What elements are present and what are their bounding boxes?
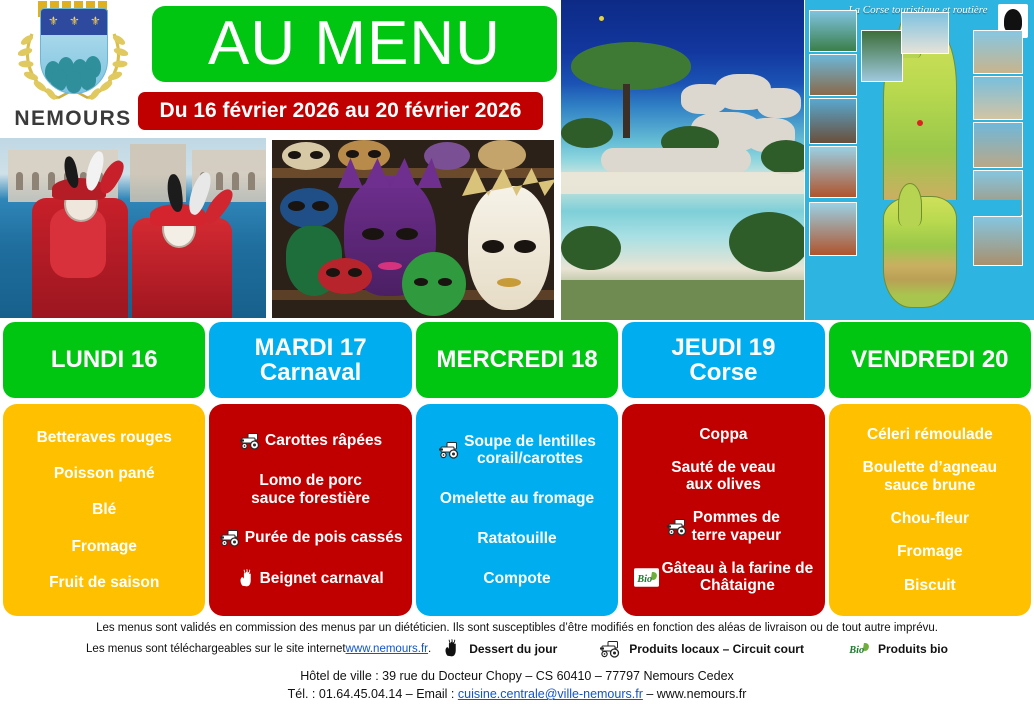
trees-icon [41, 35, 107, 93]
contact-prefix: Tél. : 01.64.45.04.14 – Email : [288, 687, 458, 701]
menu-card-row: Betteraves rougesPoisson panéBléFromageF… [0, 404, 1034, 616]
day-header-mercredi[interactable]: MERCREDI 18 [416, 322, 618, 398]
dish-item: Betteraves rouges [7, 429, 201, 447]
legend-dessert: Dessert du jour [443, 639, 557, 658]
menu-card-mardi: Carottes râpéesLomo de porcsauce foresti… [209, 404, 411, 616]
contact-suffix: – www.nemours.fr [643, 687, 747, 701]
dish-item: Boulette d’agneausauce brune [833, 459, 1027, 494]
dish-item: Fruit de saison [7, 574, 201, 592]
day-header-lundi[interactable]: LUNDI 16 [3, 322, 205, 398]
bio-icon: Bio [634, 568, 659, 587]
legend-local: Produits locaux – Circuit court [599, 640, 804, 658]
venice-carnival-photo [0, 138, 266, 318]
tractor-icon [599, 640, 622, 658]
dish-item: Poisson pané [7, 465, 201, 483]
dish-label: Fromage [71, 538, 136, 556]
dish-item: Purée de pois cassés [213, 529, 407, 547]
dish-item: Ratatouille [420, 530, 614, 548]
menu-card-mercredi: Soupe de lentillescorail/carottesOmelett… [416, 404, 618, 616]
dish-item: BioGâteau à la farine deChâtaigne [626, 560, 820, 595]
dish-item: Lomo de porcsauce forestière [213, 472, 407, 507]
website-link[interactable]: www.nemours.fr [346, 643, 428, 655]
email-link[interactable]: cuisine.centrale@ville-nemours.fr [458, 687, 643, 701]
footer: Les menus sont validés en commission des… [0, 618, 1034, 715]
bio-icon: Bio [846, 639, 871, 658]
dish-item: Carottes râpées [213, 432, 407, 450]
dish-label: Ratatouille [477, 530, 556, 548]
dish-label: Purée de pois cassés [245, 529, 403, 547]
svg-text:Bio: Bio [848, 645, 864, 656]
dish-label: Boulette d’agneausauce brune [863, 459, 997, 494]
footer-contact: Tél. : 01.64.45.04.14 – Email : cuisine.… [0, 685, 1034, 703]
dish-item: Beignet carnaval [213, 569, 407, 588]
day-header-vendredi[interactable]: VENDREDI 20 [829, 322, 1031, 398]
footer-legend: Les menus sont téléchargeables sur le si… [0, 639, 1034, 658]
dish-label: Compote [483, 570, 550, 588]
day-label-line1: MARDI 17 [255, 335, 367, 360]
dish-item: Fromage [833, 543, 1027, 561]
tractor-icon [666, 518, 689, 536]
dish-item: Omelette au fromage [420, 490, 614, 508]
dish-item: Pommes deterre vapeur [626, 509, 820, 544]
dish-item: Chou-fleur [833, 510, 1027, 528]
carnival-masks-photo [272, 140, 554, 318]
dish-item: Sauté de veauaux olives [626, 459, 820, 494]
dish-label: Coppa [699, 426, 747, 444]
legend-bio: Bio Produits bio [846, 639, 948, 658]
dish-label: Poisson pané [54, 465, 155, 483]
dish-item: Soupe de lentillescorail/carottes [420, 433, 614, 468]
header-banner: ⚜ ⚜ ⚜ NEMOURS AU MENU [0, 0, 1034, 320]
day-label-line2: Corse [689, 360, 757, 385]
legend-dessert-label: Dessert du jour [469, 642, 557, 656]
dish-label: Chou-fleur [891, 510, 969, 528]
dish-item: Coppa [626, 426, 820, 444]
dish-label: Betteraves rouges [37, 429, 172, 447]
menu-card-vendredi: Céleri rémouladeBoulette d’agneausauce b… [829, 404, 1031, 616]
download-suffix: . [428, 643, 431, 655]
dish-label: Gâteau à la farine deChâtaigne [662, 560, 814, 595]
dish-label: Soupe de lentillescorail/carottes [464, 433, 596, 468]
dish-item: Céleri rémoulade [833, 426, 1027, 444]
dish-label: Céleri rémoulade [867, 426, 993, 444]
dish-item: Fromage [7, 538, 201, 556]
hand-icon [238, 569, 257, 588]
day-label-line1: LUNDI 16 [51, 347, 158, 372]
day-header-jeudi[interactable]: JEUDI 19 Corse [622, 322, 824, 398]
legend-local-label: Produits locaux – Circuit court [629, 642, 804, 656]
day-label-line2: Carnaval [260, 360, 361, 385]
date-range-badge: Du 16 février 2026 au 20 février 2026 [138, 92, 543, 130]
corsica-beach-photo [561, 0, 804, 320]
dish-label: Lomo de porcsauce forestière [251, 472, 370, 507]
day-header-row: LUNDI 16 MARDI 17 Carnaval MERCREDI 18 J… [0, 322, 1034, 398]
day-label-line1: JEUDI 19 [671, 335, 775, 360]
dish-label: Biscuit [904, 577, 956, 595]
dish-label: Fruit de saison [49, 574, 159, 592]
tractor-icon [239, 432, 262, 450]
day-header-mardi[interactable]: MARDI 17 Carnaval [209, 322, 411, 398]
dish-item: Biscuit [833, 577, 1027, 595]
page-title: AU MENU [152, 6, 557, 82]
dish-label: Blé [92, 501, 116, 519]
dish-label: Pommes deterre vapeur [692, 509, 782, 544]
menu-card-lundi: Betteraves rougesPoisson panéBléFromageF… [3, 404, 205, 616]
city-name: NEMOURS [8, 107, 138, 131]
dish-item: Blé [7, 501, 201, 519]
nemours-logo: ⚜ ⚜ ⚜ NEMOURS [8, 0, 138, 132]
coat-of-arms-icon: ⚜ ⚜ ⚜ [18, 2, 128, 106]
legend-bio-label: Produits bio [878, 642, 948, 656]
tractor-icon [438, 441, 461, 459]
dish-label: Fromage [897, 543, 962, 561]
footer-address: Hôtel de ville : 39 rue du Docteur Chopy… [0, 667, 1034, 685]
download-prefix: Les menus sont téléchargeables sur le si… [86, 643, 346, 655]
dish-item: Compote [420, 570, 614, 588]
menu-card-jeudi: CoppaSauté de veauaux olivesPommes deter… [622, 404, 824, 616]
footer-disclaimer: Les menus sont validés en commission des… [0, 622, 1034, 634]
dish-label: Sauté de veauaux olives [671, 459, 775, 494]
svg-text:Bio: Bio [636, 573, 652, 584]
hand-icon [443, 639, 462, 658]
dish-label: Beignet carnaval [260, 570, 384, 588]
menu-poster: ⚜ ⚜ ⚜ NEMOURS AU MENU [0, 0, 1034, 715]
dish-label: Omelette au fromage [440, 490, 594, 508]
day-label-line1: VENDREDI 20 [851, 347, 1008, 372]
tractor-icon [219, 529, 242, 547]
corsica-map-photo: La Corse touristique et routière [805, 0, 1034, 320]
dish-label: Carottes râpées [265, 432, 382, 450]
shield-icon: ⚜ ⚜ ⚜ [40, 8, 108, 94]
day-label-line1: MERCREDI 18 [436, 347, 597, 372]
